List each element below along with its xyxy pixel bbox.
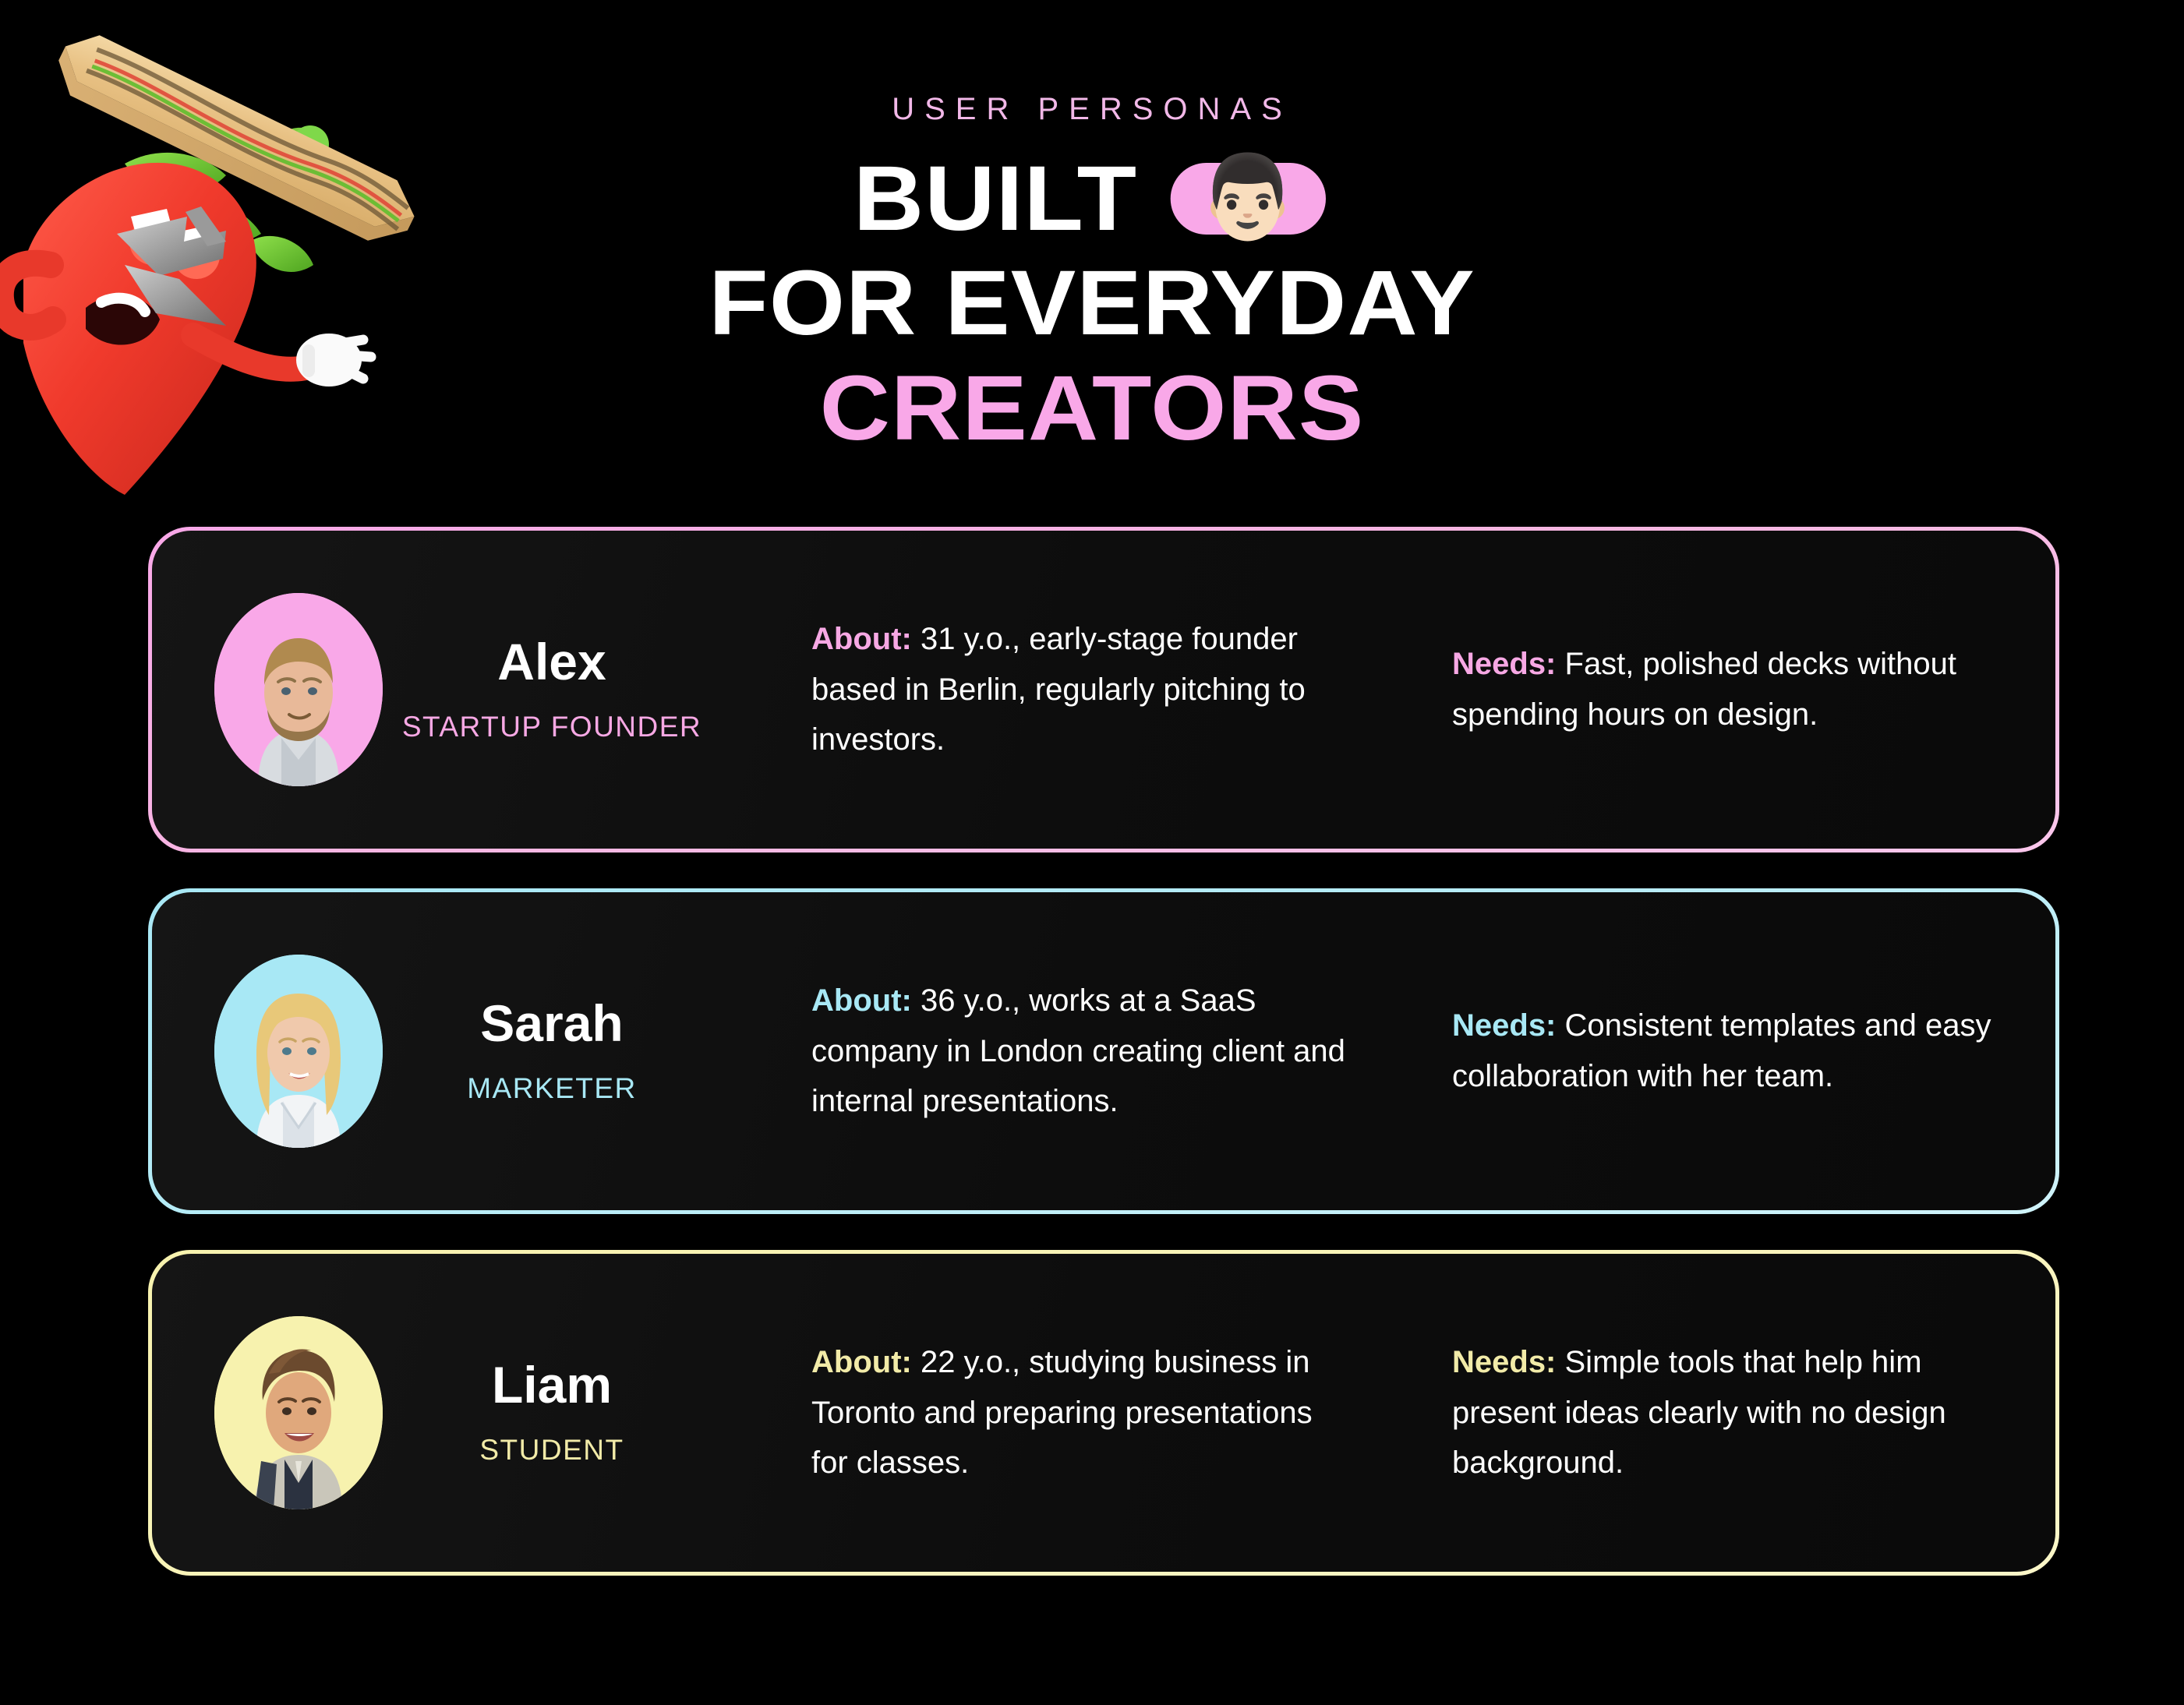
persona-about: About: 36 y.o., works at a SaaS company … [811, 976, 1357, 1127]
avatar [214, 1316, 383, 1509]
page-header: USER PERSONAS BUILT 👨🏻 FOR EVERYDAY CREA… [0, 0, 2184, 455]
kicker-label: USER PERSONAS [0, 92, 2184, 127]
persona-role: MARKETER [398, 1072, 705, 1105]
avatar [214, 955, 383, 1148]
about-label: About: [811, 1345, 912, 1379]
persona-card[interactable]: Alex STARTUP FOUNDER About: 31 y.o., ear… [148, 527, 2059, 852]
persona-about: About: 31 y.o., early-stage founder base… [811, 614, 1357, 765]
needs-label: Needs: [1452, 1345, 1556, 1379]
title-line-1-text: BUILT [853, 152, 1137, 245]
persona-needs: Needs: Simple tools that help him presen… [1452, 1337, 1998, 1488]
persona-identity: Liam STUDENT [383, 1359, 705, 1467]
title-line-1: BUILT 👨🏻 [0, 152, 2184, 245]
persona-name: Sarah [398, 997, 705, 1049]
avatar [214, 593, 383, 786]
persona-name: Alex [398, 636, 705, 687]
persona-card[interactable]: Liam STUDENT About: 22 y.o., studying bu… [148, 1250, 2059, 1576]
needs-label: Needs: [1452, 1008, 1556, 1043]
page-title: BUILT 👨🏻 FOR EVERYDAY CREATORS [0, 152, 2184, 455]
persona-about: About: 22 y.o., studying business in Tor… [811, 1337, 1357, 1488]
title-line-3: CREATORS [0, 362, 2184, 455]
persona-card[interactable]: Sarah MARKETER About: 36 y.o., works at … [148, 888, 2059, 1214]
man-emoji-icon: 👨🏻 [1196, 157, 1299, 238]
persona-name: Liam [398, 1359, 705, 1410]
persona-role: STARTUP FOUNDER [398, 711, 705, 743]
persona-identity: Sarah MARKETER [383, 997, 705, 1105]
about-label: About: [811, 622, 912, 656]
persona-needs: Needs: Fast, polished decks without spen… [1452, 639, 1998, 740]
persona-card-list: Alex STARTUP FOUNDER About: 31 y.o., ear… [148, 527, 2059, 1611]
persona-needs: Needs: Consistent templates and easy col… [1452, 1001, 1998, 1102]
needs-label: Needs: [1452, 647, 1556, 681]
title-line-2: FOR EVERYDAY [0, 256, 2184, 350]
persona-role: STUDENT [398, 1434, 705, 1467]
persona-emoji-badge: 👨🏻 [1171, 163, 1326, 235]
about-label: About: [811, 983, 912, 1018]
persona-identity: Alex STARTUP FOUNDER [383, 636, 705, 743]
